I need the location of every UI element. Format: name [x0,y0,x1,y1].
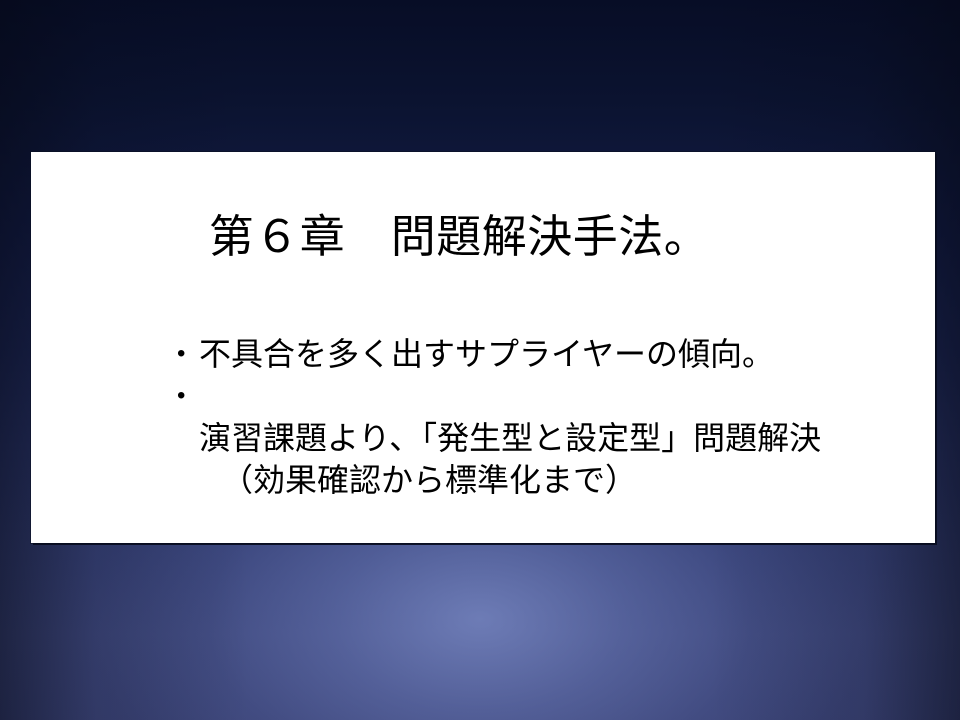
slide-content-card: 第６章 問題解決手法。 • 不具合を多く出すサプライヤーの傾向。 • 演習課題よ… [31,152,935,543]
bullet-text: 不具合を多く出すサプライヤーの傾向。 [199,333,895,375]
bullet-item: • 演習課題より、「発生型と設定型」問題解決 （効果確認から標準化まで） [177,375,895,543]
slide-title: 第６章 問題解決手法。 [31,214,935,259]
bullet-text-line: 演習課題より、「発生型と設定型」問題解決 [199,420,821,456]
bullet-text-continuation: （効果確認から標準化まで） [199,459,895,501]
bullet-text: 演習課題より、「発生型と設定型」問題解決 （効果確認から標準化まで） [199,375,895,543]
slide-bullet-list: • 不具合を多く出すサプライヤーの傾向。 • 演習課題より、「発生型と設定型」問… [177,333,895,543]
bullet-marker-icon: • [177,375,199,417]
bullet-item: • 不具合を多く出すサプライヤーの傾向。 [177,333,895,375]
presentation-slide: 第６章 問題解決手法。 • 不具合を多く出すサプライヤーの傾向。 • 演習課題よ… [0,0,960,720]
bullet-marker-icon: • [177,333,199,375]
